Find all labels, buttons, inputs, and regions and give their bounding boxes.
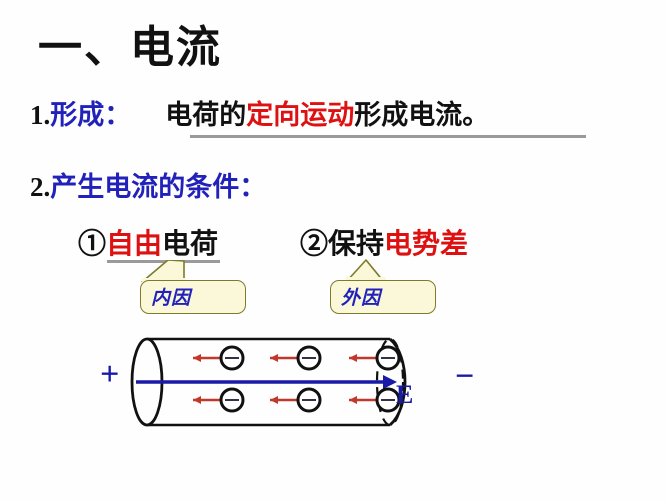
electron-bottom-2 [298,389,320,411]
electron-bottom-1 [221,389,243,411]
condition-1-marker: ① [78,229,106,260]
condition-1: ①自由电荷 [78,222,218,262]
electron-top-1 [221,347,243,369]
callout-inner-pointer [140,260,200,282]
item-2-number: 2. [30,172,50,202]
item-1-value-part-3: 形成电流。 [354,100,489,130]
item-1-key: 形成： [50,100,131,130]
callout-internal-cause: 内因 [140,280,246,314]
drift-arrow-bottom-3 [349,396,378,404]
drift-arrow-bottom-2 [270,396,299,404]
condition-2-marker: ② [300,229,328,260]
condition-1-text: 电荷 [162,229,218,260]
conductor-diagram [90,330,490,440]
item-1-number: 1. [30,100,50,130]
item-1-underline [190,135,586,138]
drift-arrow-bottom-1 [193,396,222,404]
condition-2-highlight: 电势差 [384,229,468,260]
electric-field-label: E [396,380,413,410]
callout-outer-pointer [340,258,400,282]
condition-2-text: 保持 [328,229,384,260]
slide-canvas: 一、电流 1.形成：电荷的定向运动形成电流。 2.产生电流的条件： ①自由电荷 … [0,0,667,500]
callout-external-cause-label: 外因 [341,283,381,310]
electric-field-arrow [136,375,397,389]
item-1-value-part-1: 电荷的 [165,100,246,130]
drift-arrow-top-1 [193,354,222,362]
electron-top-2 [298,347,320,369]
callout-internal-cause-label: 内因 [151,283,191,310]
electron-top-3 [377,347,399,369]
callout-external-cause: 外因 [330,280,436,314]
condition-1-highlight: 自由 [106,229,162,260]
drift-arrow-top-2 [270,354,299,362]
drift-arrow-top-3 [349,354,378,362]
item-conditions-line: 2.产生电流的条件： [30,165,266,204]
item-formation-line: 1.形成：电荷的定向运动形成电流。 [30,100,489,131]
item-2-key: 产生电流的条件： [50,172,266,202]
condition-2: ②保持电势差 [300,222,468,262]
page-title: 一、电流 [38,24,222,72]
item-1-value-highlight: 定向运动 [246,100,354,130]
